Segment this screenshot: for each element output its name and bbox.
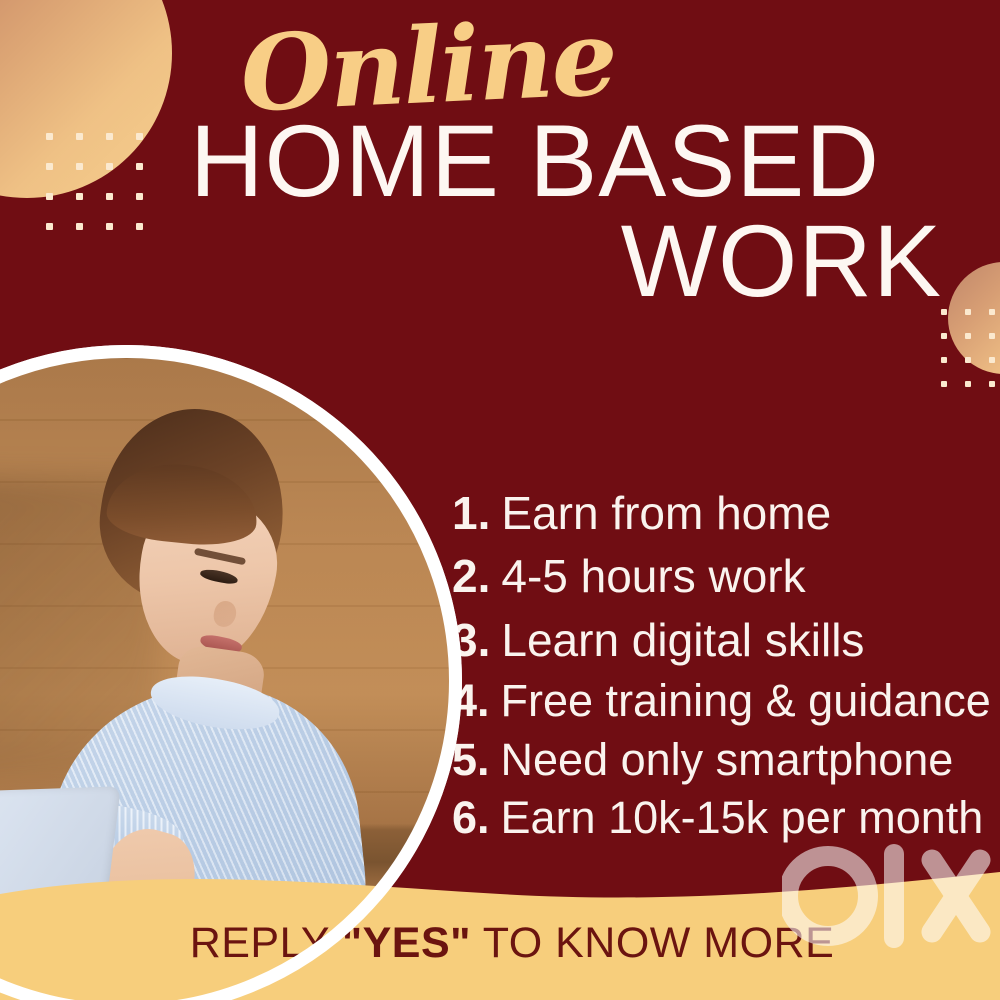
- dot-grid-left: [46, 133, 143, 230]
- title-line-2: WORK: [182, 212, 942, 312]
- list-item: 5. Need only smartphone: [452, 731, 1000, 789]
- list-item: 4. Free training & guidance: [452, 672, 1000, 730]
- list-item-number: 3.: [452, 609, 490, 672]
- benefits-list: 1. Earn from home 2. 4-5 hours work 3. L…: [452, 482, 1000, 847]
- poster-canvas: Online HOME BASED WORK: [0, 0, 1000, 1000]
- list-item-label: Need only smartphone: [501, 731, 954, 789]
- list-item-number: 4.: [452, 672, 490, 730]
- headline-block: Online HOME BASED WORK: [182, 8, 942, 312]
- cta-text: REPLY "YES" TO KNOW MORE: [0, 919, 1000, 968]
- cta-prefix: REPLY: [190, 919, 342, 967]
- list-item: 2. 4-5 hours work: [452, 545, 1000, 608]
- list-item-number: 2.: [452, 545, 490, 608]
- page-title: HOME BASED WORK: [182, 112, 942, 312]
- list-item-label: Learn digital skills: [501, 609, 864, 672]
- list-item-number: 6.: [452, 789, 490, 847]
- list-item: 6. Earn 10k-15k per month: [452, 789, 1000, 847]
- cta-emphasis: "YES": [342, 919, 471, 967]
- list-item-label: Earn from home: [501, 482, 831, 545]
- list-item-number: 5.: [452, 731, 490, 789]
- list-item: 1. Earn from home: [452, 482, 1000, 545]
- list-item: 3. Learn digital skills: [452, 609, 1000, 672]
- list-item-label: Free training & guidance: [501, 672, 991, 730]
- list-item-label: Earn 10k-15k per month: [501, 789, 984, 847]
- dot-grid-right: [941, 309, 1000, 387]
- cta-suffix: TO KNOW MORE: [471, 919, 834, 967]
- list-item-number: 1.: [452, 482, 490, 545]
- list-item-label: 4-5 hours work: [501, 545, 805, 608]
- cta-banner: REPLY "YES" TO KNOW MORE: [0, 864, 1000, 1000]
